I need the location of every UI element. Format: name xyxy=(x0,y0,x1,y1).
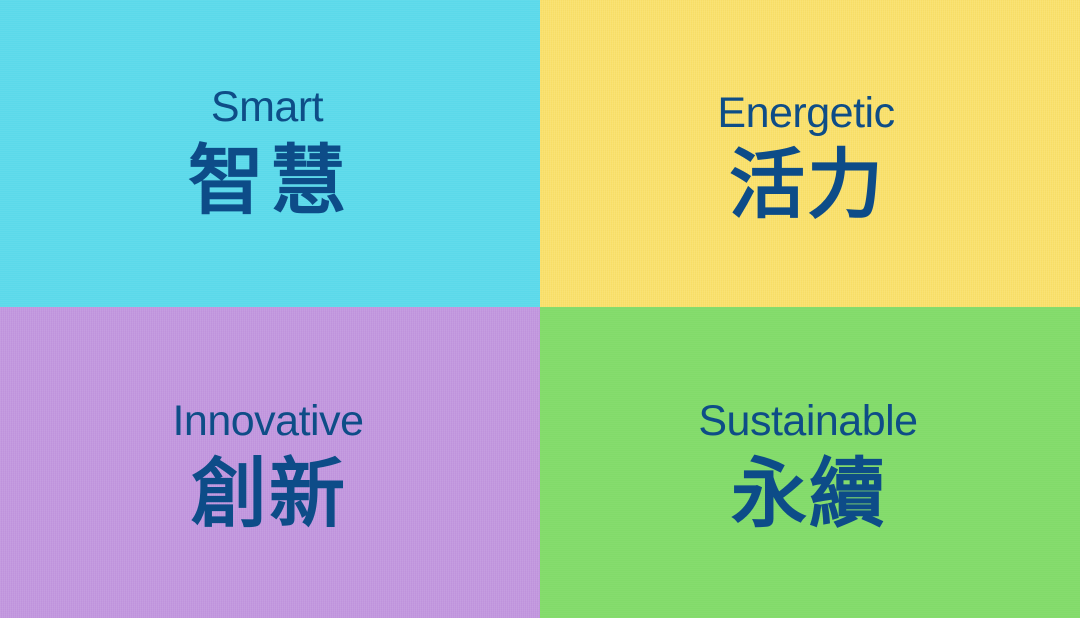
value-text-block-innovative: Innovative 創新 xyxy=(172,307,363,532)
value-label-en-sustainable: Sustainable xyxy=(698,400,917,443)
value-label-cjk-sustainable: 永續 xyxy=(729,456,887,532)
value-label-en-energetic: Energetic xyxy=(717,92,894,135)
value-label-cjk-energetic: 活力 xyxy=(727,147,885,223)
value-label-cjk-innovative: 創新 xyxy=(189,456,347,532)
value-panel-smart[interactable]: Smart 智慧 xyxy=(0,0,540,307)
value-text-block-smart: Smart 智慧 xyxy=(182,0,352,219)
brand-values-grid: Smart 智慧 Energetic 活力 Innovative 創新 Sust… xyxy=(0,0,1080,618)
value-text-block-energetic: Energetic 活力 xyxy=(717,0,894,223)
value-panel-energetic[interactable]: Energetic 活力 xyxy=(540,0,1080,307)
value-label-cjk-smart: 智慧 xyxy=(182,143,352,219)
value-panel-innovative[interactable]: Innovative 創新 xyxy=(0,307,540,618)
value-text-block-sustainable: Sustainable 永續 xyxy=(698,307,917,532)
value-panel-sustainable[interactable]: Sustainable 永續 xyxy=(540,307,1080,618)
value-label-en-smart: Smart xyxy=(211,86,323,129)
value-label-en-innovative: Innovative xyxy=(172,400,363,443)
